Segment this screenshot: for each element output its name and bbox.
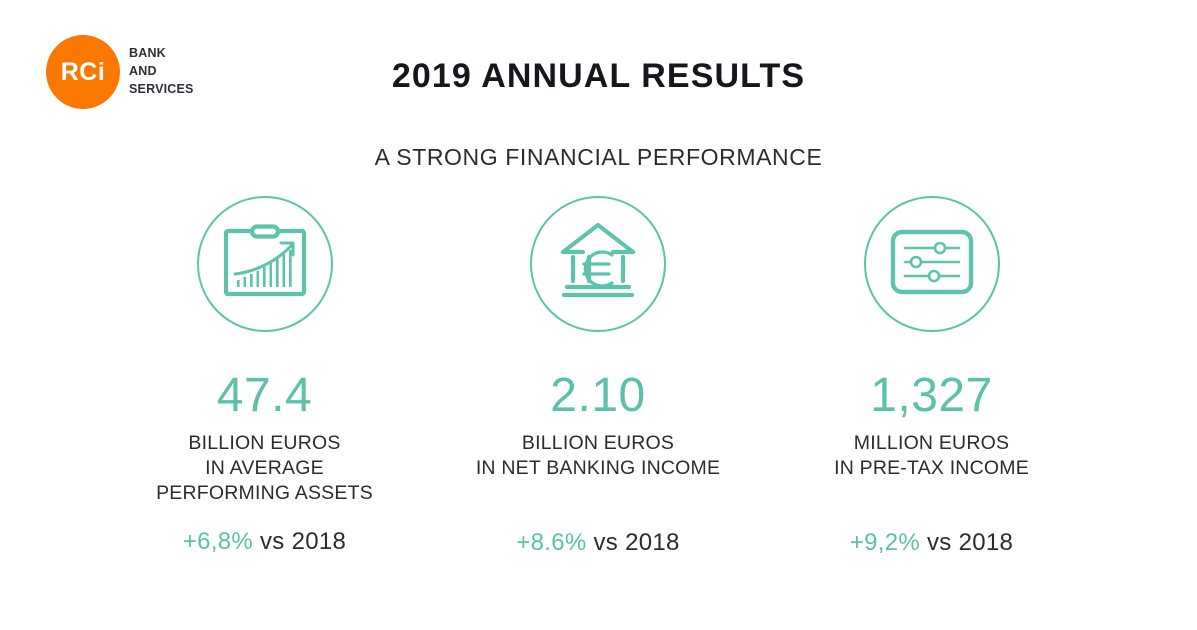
- metric-description-line-2: IN PRE-TAX INCOME: [834, 456, 1029, 481]
- metric-icon-circle: [864, 196, 1000, 332]
- page-subtitle: A STRONG FINANCIAL PERFORMANCE: [0, 144, 1197, 171]
- chart-growth-board-icon: [221, 223, 309, 306]
- metric-description-line-3: PERFORMING ASSETS: [156, 481, 373, 506]
- metric-growth-compare: vs 2018: [594, 529, 680, 556]
- metric-growth-percent: +6,8%: [183, 528, 253, 555]
- metric-description: BILLION EUROS IN AVERAGE PERFORMING ASSE…: [156, 431, 373, 506]
- metric-value: 47.4: [217, 372, 312, 420]
- metric-growth-compare: vs 2018: [927, 529, 1013, 556]
- metric-description: MILLION EUROS IN PRE-TAX INCOME: [834, 431, 1029, 481]
- metric-description-line-1: BILLION EUROS: [156, 431, 373, 456]
- metric-growth-compare: vs 2018: [260, 528, 346, 555]
- metric-value: 1,327: [870, 372, 993, 420]
- sliders-settings-icon: [890, 229, 974, 300]
- metric-description: BILLION EUROS IN NET BANKING INCOME: [476, 431, 720, 481]
- metric-card-pre-tax-income: 1,327 MILLION EUROS IN PRE-TAX INCOME +9…: [765, 196, 1098, 555]
- metric-growth: +6,8% vs 2018: [183, 530, 346, 554]
- metric-value: 2.10: [550, 372, 645, 420]
- metric-description-line-2: IN NET BANKING INCOME: [476, 456, 720, 481]
- metric-growth-percent: +9,2%: [850, 529, 920, 556]
- metric-growth: +9,2% vs 2018: [850, 531, 1013, 555]
- metric-description-line-2: IN AVERAGE: [156, 456, 373, 481]
- metric-card-net-banking-income: 2.10 BILLION EUROS IN NET BANKING INCOME…: [432, 196, 765, 555]
- metric-icon-circle: [530, 196, 666, 332]
- metric-icon-circle: [197, 196, 333, 332]
- metric-growth-percent: +8.6%: [516, 529, 586, 556]
- metric-description-line-1: BILLION EUROS: [476, 431, 720, 456]
- metric-growth: +8.6% vs 2018: [516, 531, 679, 555]
- metric-card-average-performing-assets: 47.4 BILLION EUROS IN AVERAGE PERFORMING…: [98, 196, 431, 555]
- metric-description-line-1: MILLION EUROS: [834, 431, 1029, 456]
- bank-euro-icon: [555, 219, 641, 310]
- metrics-row: 47.4 BILLION EUROS IN AVERAGE PERFORMING…: [98, 196, 1098, 555]
- page-title: 2019 ANNUAL RESULTS: [0, 57, 1197, 96]
